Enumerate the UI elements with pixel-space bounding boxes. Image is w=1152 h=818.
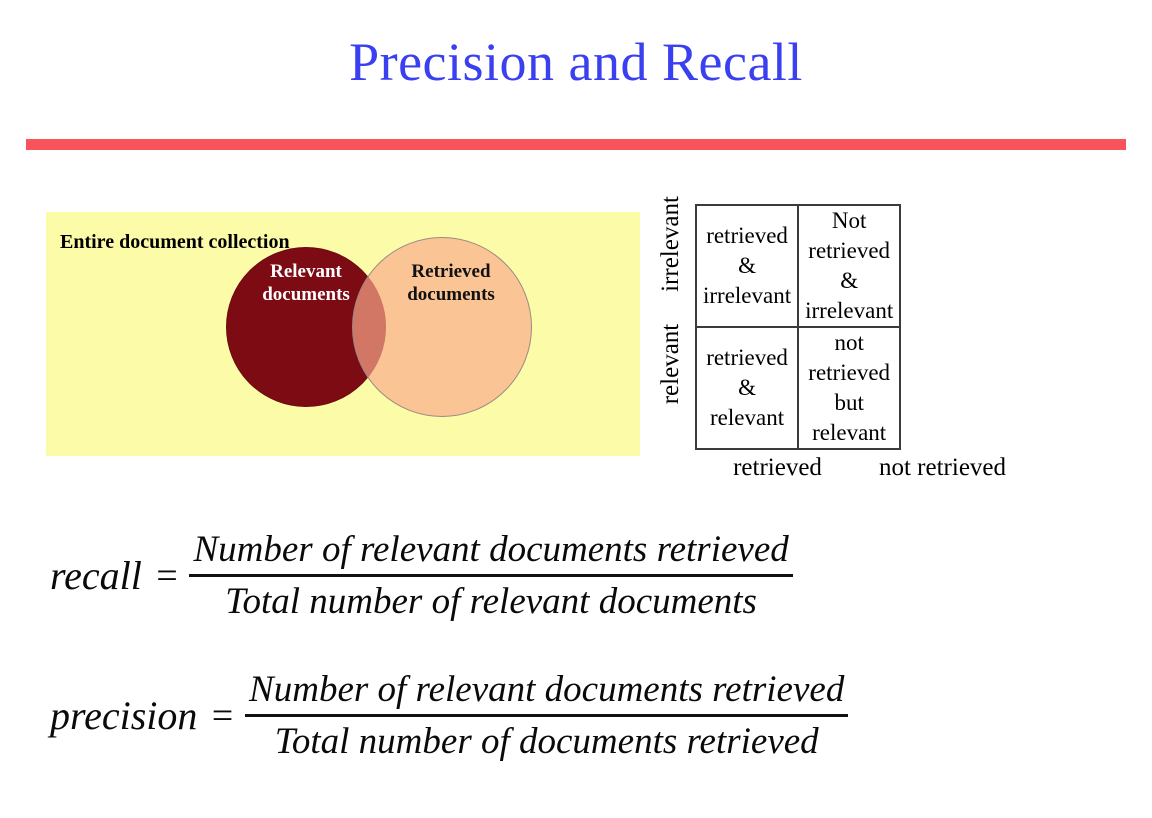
matrix-row-label-irrelevant: irrelevant: [651, 184, 691, 304]
matrix-cell-retrieved-irrelevant: retrieved & irrelevant: [696, 205, 798, 327]
relevant-documents-label-line2: documents: [236, 283, 376, 306]
matrix-row-axis-labels: irrelevant relevant: [655, 204, 695, 444]
table-row: retrieved & relevant not retrieved but r…: [696, 327, 900, 449]
matrix-column-label-not-retrieved: not retrieved: [860, 452, 1025, 484]
relevant-documents-label: Relevant documents: [236, 260, 376, 306]
precision-formula-equals: =: [209, 694, 235, 738]
matrix-row-label-relevant: relevant: [651, 304, 691, 424]
title-divider-bar: [26, 139, 1126, 150]
retrieved-documents-label-line2: documents: [376, 283, 526, 306]
matrix-grid: retrieved & irrelevant Not retrieved & i…: [695, 204, 901, 450]
recall-formula: recall = Number of relevant documents re…: [50, 525, 793, 626]
precision-formula: precision = Number of relevant documents…: [50, 665, 848, 766]
relevant-documents-label-line1: Relevant: [236, 260, 376, 283]
precision-numerator: Number of relevant documents retrieved: [245, 665, 848, 714]
matrix-column-label-retrieved: retrieved: [695, 452, 860, 484]
precision-denominator: Total number of documents retrieved: [271, 717, 823, 766]
precision-formula-name: precision: [50, 693, 197, 739]
page-title: Precision and Recall: [0, 30, 1152, 94]
recall-formula-equals: =: [154, 554, 180, 598]
recall-denominator: Total number of relevant documents: [221, 577, 761, 626]
matrix-column-axis-labels: retrieved not retrieved: [695, 452, 1025, 484]
retrieved-documents-label: Retrieved documents: [376, 260, 526, 306]
table-row: retrieved & irrelevant Not retrieved & i…: [696, 205, 900, 327]
venn-circles-stage: Relevant documents Retrieved documents: [46, 212, 640, 456]
matrix-cell-notretrieved-irrelevant: Not retrieved & irrelevant: [798, 205, 900, 327]
matrix-cell-retrieved-relevant: retrieved & relevant: [696, 327, 798, 449]
matrix-cell-notretrieved-relevant: not retrieved but relevant: [798, 327, 900, 449]
venn-diagram-panel: Entire document collection Relevant docu…: [46, 212, 640, 456]
recall-fraction: Number of relevant documents retrieved T…: [189, 525, 792, 626]
recall-numerator: Number of relevant documents retrieved: [189, 525, 792, 574]
retrieved-documents-label-line1: Retrieved: [376, 260, 526, 283]
precision-fraction: Number of relevant documents retrieved T…: [245, 665, 848, 766]
recall-formula-name: recall: [50, 553, 142, 599]
